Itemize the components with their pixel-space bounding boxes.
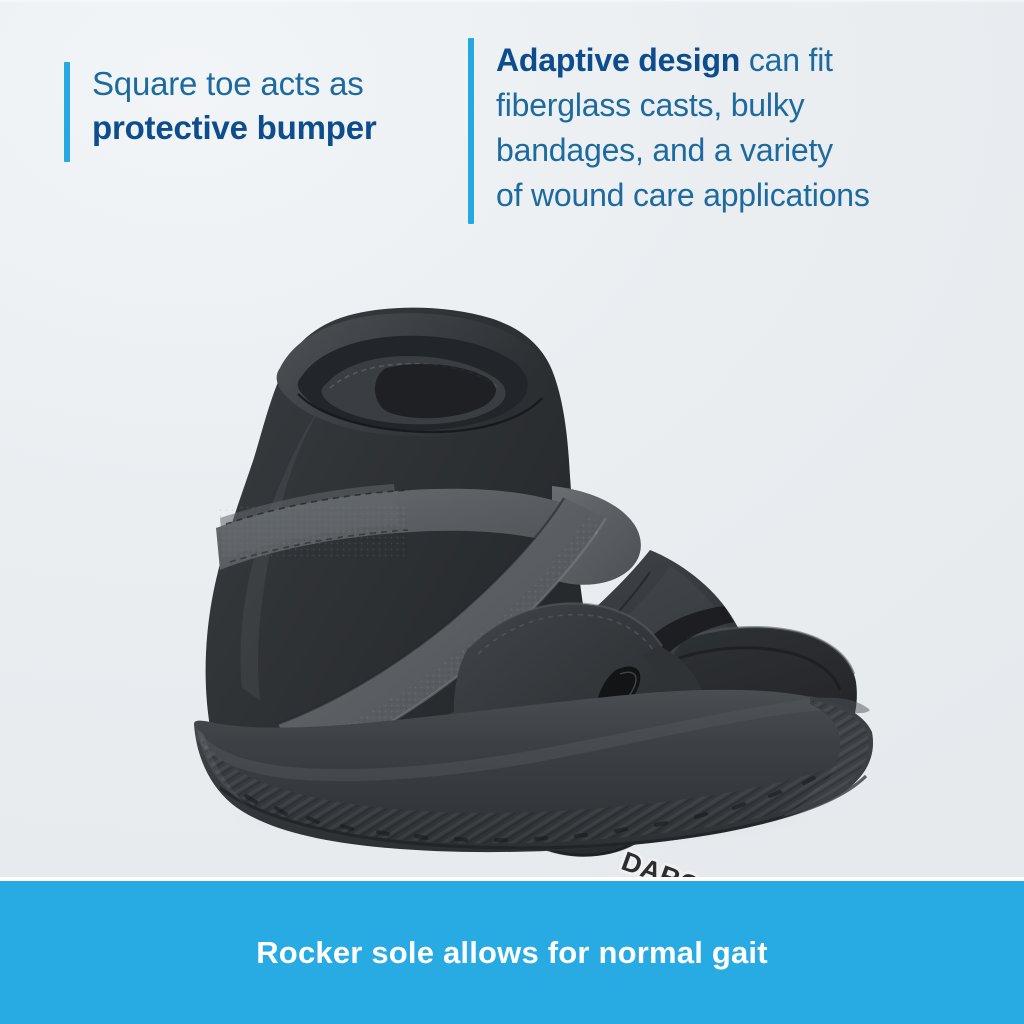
callout-adaptive-design-line2: fiberglass casts, bulky — [496, 83, 870, 128]
product-image-cast-boot: DARCO — [150, 218, 890, 858]
callout-adaptive-design-line4: of wound care applications — [496, 173, 870, 218]
callout-square-toe-line2: protective bumper — [92, 106, 377, 150]
callout-adaptive-design-copy: Adaptive design can fit fiberglass casts… — [474, 38, 870, 224]
callout-adaptive-design-lead: Adaptive design — [496, 42, 740, 78]
bottom-banner-text: Rocker sole allows for normal gait — [256, 935, 768, 971]
bottom-banner: Rocker sole allows for normal gait — [0, 877, 1024, 1024]
infographic-poster: Square toe acts as protective bumper Ada… — [0, 0, 1024, 1024]
top-edge-hairline — [0, 0, 1024, 3]
callout-adaptive-design: Adaptive design can fit fiberglass casts… — [468, 38, 870, 224]
callout-adaptive-design-line3: bandages, and a variety — [496, 128, 870, 173]
callout-adaptive-design-tail: can fit — [740, 42, 833, 78]
callout-square-toe-copy: Square toe acts as protective bumper — [70, 62, 377, 162]
callout-adaptive-design-line1: Adaptive design can fit — [496, 38, 870, 83]
callout-square-toe: Square toe acts as protective bumper — [64, 62, 377, 162]
callout-square-toe-line1: Square toe acts as — [92, 62, 377, 106]
